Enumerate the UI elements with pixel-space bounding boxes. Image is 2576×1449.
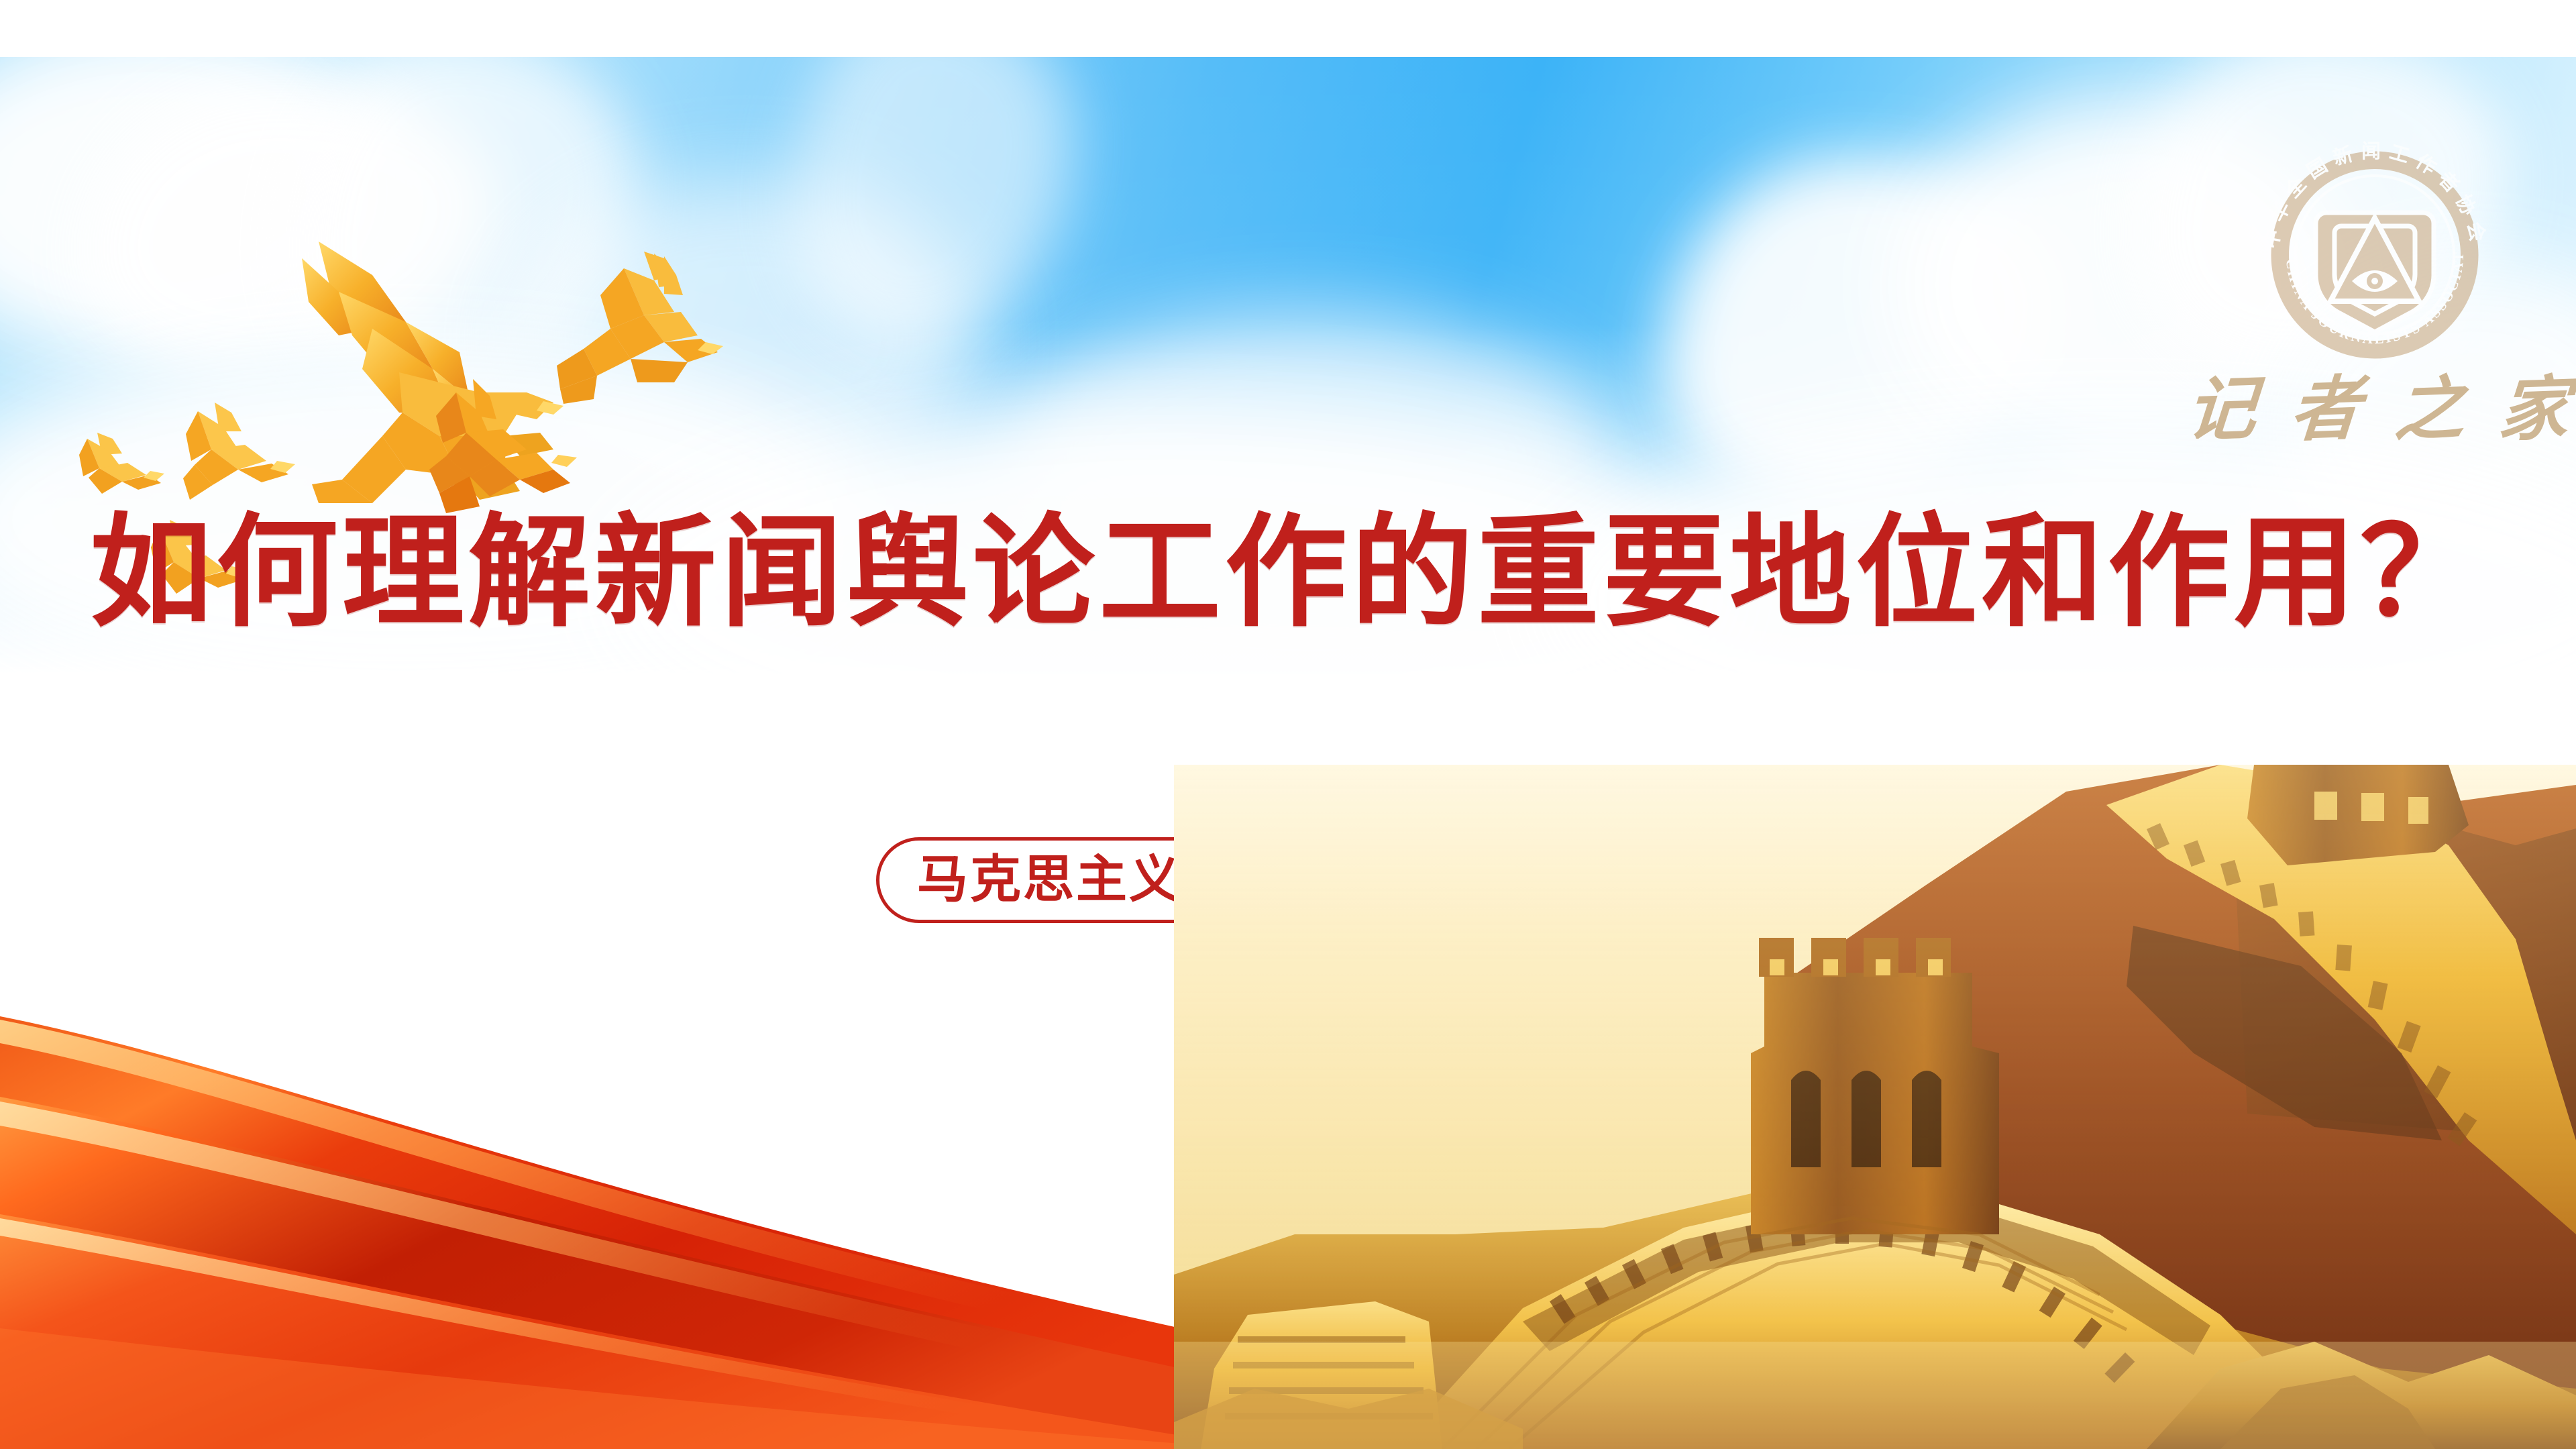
page-title: 如何理解新闻舆论工作的重要地位和作用？ — [0, 510, 2576, 638]
top-white-band — [0, 0, 2576, 57]
dove-icon — [171, 399, 305, 510]
dove-icon — [74, 429, 168, 506]
brand-char: 者 — [2288, 351, 2365, 455]
red-ribbon-decoration — [0, 926, 1181, 1449]
brand-char: 家 — [2496, 351, 2573, 455]
brand-script-text: 记 者 之 家 — [2187, 349, 2569, 456]
brand-char: 记 — [2184, 351, 2261, 455]
slide-canvas: 如何理解新闻舆论工作的重要地位和作用？ 马克思主义新闻观理论系列课程 — [0, 0, 2576, 1449]
brand-char: 之 — [2392, 351, 2469, 455]
association-logo: 中华全国新闻工作者协会 ALL-CHINA JOURNALISTS ASSOCI… — [2241, 138, 2509, 366]
great-wall-image — [1174, 765, 2576, 1449]
